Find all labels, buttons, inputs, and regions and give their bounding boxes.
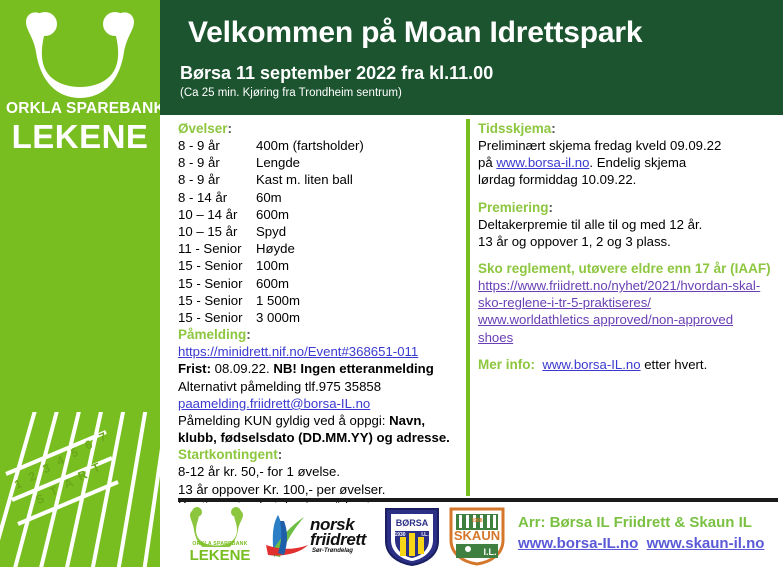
- event-datetime: Børsa 11 september 2022 fra kl.11.00: [180, 63, 493, 84]
- fee-line: 8-12 år kr. 50,- for 1 øvelse.: [178, 463, 460, 480]
- signup-url-link[interactable]: https://minidrett.nif.no/Event#368651-01…: [178, 343, 460, 360]
- page-title: Velkommen på Moan Idrettspark: [188, 16, 642, 50]
- event-age: 15 - Senior: [178, 275, 256, 292]
- svg-text:S: S: [34, 491, 47, 507]
- svg-text:I.L.: I.L.: [421, 532, 429, 538]
- valid-signup-line-2: klubb, fødselsdato (DD.MM.YY) og adresse…: [178, 429, 460, 446]
- event-name: 100m: [256, 257, 289, 274]
- shoe-rules-link[interactable]: sko-reglene-i-tr-5-praktiseres/: [478, 294, 778, 311]
- events-table: 8 - 9 år400m (fartsholder) 8 - 9 årLengd…: [178, 137, 460, 326]
- shoe-rules-heading: Sko reglement, utøvere eldre enn 17 år (…: [478, 260, 778, 277]
- svg-text:1930: 1930: [394, 532, 405, 538]
- event-name: Høyde: [256, 240, 295, 257]
- event-age: 15 - Senior: [178, 257, 256, 274]
- schedule-prefix: på: [478, 155, 496, 170]
- table-row: 15 - Senior1 500m: [178, 292, 460, 309]
- svg-text:5: 5: [69, 445, 81, 461]
- deadline-label: Frist:: [178, 361, 211, 376]
- deadline-value: 08.09.22.: [215, 361, 270, 376]
- borsa-il-crest-icon: BØRSA 1930 I.L.: [382, 505, 442, 567]
- event-name: 400m (fartsholder): [256, 137, 364, 154]
- event-age: 8 - 9 år: [178, 154, 256, 171]
- poster-root: ORKLA SPAREBANK LEKENE: [0, 0, 783, 567]
- schedule-line-2: på www.borsa-il.no. Endelig skjema: [478, 154, 778, 171]
- events-heading: Øvelser:: [178, 120, 460, 137]
- more-info-link[interactable]: www.borsa-IL.no: [542, 357, 640, 372]
- deadline-warning: NB! Ingen etteranmelding: [273, 361, 433, 376]
- schedule-line-1: Preliminært skjema fredag kveld 09.09.22: [478, 137, 778, 154]
- shoe-rules-link[interactable]: https://www.friidrett.no/nyhet/2021/hvor…: [478, 277, 778, 294]
- table-row: 15 - Senior600m: [178, 275, 460, 292]
- footer-links: www.borsa-IL.no www.skaun-il.no: [518, 535, 764, 552]
- awards-line: 13 år og oppover 1, 2 og 3 plass.: [478, 233, 778, 250]
- svg-text:1908: 1908: [471, 518, 482, 524]
- table-row: 8 - 14 år60m: [178, 189, 460, 206]
- event-name: 1 500m: [256, 292, 300, 309]
- signup-email-link[interactable]: paamelding.friidrett@borsa-IL.no: [178, 395, 460, 412]
- event-age: 10 – 14 år: [178, 206, 256, 223]
- shoe-rules-link[interactable]: shoes: [478, 329, 778, 346]
- event-name: 60m: [256, 189, 282, 206]
- svg-text:2: 2: [27, 469, 39, 485]
- event-name: 3 000m: [256, 309, 300, 326]
- event-age: 15 - Senior: [178, 309, 256, 326]
- table-row: 15 - Senior100m: [178, 257, 460, 274]
- schedule-heading: Tidsskjema:: [478, 120, 778, 137]
- event-name: Lengde: [256, 154, 300, 171]
- footer-link-skaun[interactable]: www.skaun-il.no: [647, 535, 765, 552]
- event-name: 600m: [256, 275, 289, 292]
- table-row: 8 - 9 årKast m. liten ball: [178, 171, 460, 188]
- event-name: Spyd: [256, 223, 286, 240]
- arranger-label: Arr: Børsa IL Friidrett & Skaun IL: [518, 514, 752, 531]
- orkla-sparebank-logo-icon: [12, 8, 148, 98]
- event-age: 8 - 9 år: [178, 171, 256, 188]
- svg-text:4: 4: [55, 453, 67, 469]
- table-row: 10 – 15 årSpyd: [178, 223, 460, 240]
- table-row: 8 - 9 årLengde: [178, 154, 460, 171]
- schedule-link[interactable]: www.borsa-il.no: [496, 155, 589, 170]
- awards-heading: Premiering:: [478, 199, 778, 216]
- skaun-il-crest-icon: 1908 SKAUN I.L.: [448, 506, 506, 566]
- column-divider: [466, 119, 470, 496]
- poster-header: Velkommen på Moan Idrettspark Børsa 11 s…: [160, 0, 783, 115]
- more-info-line: Mer info: www.borsa-IL.no etter hvert.: [478, 356, 778, 373]
- running-track-graphic-icon: 1 2 3 4 5 6 7 S T A R T: [0, 412, 160, 567]
- norsk-friidrett-region: Sør-Trøndelag: [312, 548, 353, 554]
- valid-signup-line-1: Påmelding KUN gyldig ved å oppgi: Navn,: [178, 412, 460, 429]
- sidebar-bank-name: ORKLA SPAREBANK: [6, 100, 158, 118]
- event-age: 10 – 15 år: [178, 223, 256, 240]
- event-age: 15 - Senior: [178, 292, 256, 309]
- fee-heading: Startkontingent:: [178, 446, 460, 463]
- event-name: Kast m. liten ball: [256, 171, 353, 188]
- right-column: Tidsskjema: Preliminært skjema fredag kv…: [478, 120, 778, 373]
- table-row: 10 – 14 år600m: [178, 206, 460, 223]
- svg-text:I.L.: I.L.: [484, 547, 497, 557]
- event-age: 11 - Senior: [178, 240, 256, 257]
- awards-line: Deltakerpremie til alle til og med 12 år…: [478, 216, 778, 233]
- schedule-line-3: lørdag formiddag 10.09.22.: [478, 171, 778, 188]
- more-info-heading: Mer info:: [478, 357, 535, 372]
- left-column: Øvelser: 8 - 9 år400m (fartsholder) 8 - …: [178, 120, 460, 532]
- shoe-rules-link[interactable]: www.worldathletics approved/non-approved: [478, 311, 778, 328]
- alt-signup-line: Alternativt påmelding tlf.975 35858: [178, 378, 460, 395]
- svg-text:A: A: [62, 475, 76, 491]
- table-row: 8 - 9 år400m (fartsholder): [178, 137, 460, 154]
- valid-plain: Påmelding KUN gyldig ved å oppgi:: [178, 413, 389, 428]
- table-row: 15 - Senior3 000m: [178, 309, 460, 326]
- left-sidebar: ORKLA SPAREBANK LEKENE: [0, 0, 160, 567]
- footer-divider: [178, 498, 778, 502]
- sidebar-brand-name: LEKENE: [4, 118, 156, 156]
- event-age: 8 - 9 år: [178, 137, 256, 154]
- svg-text:7: 7: [97, 429, 109, 445]
- event-age: 8 - 14 år: [178, 189, 256, 206]
- poster-footer: ORKLA SPAREBANK LEKENE norsk friidrett S…: [160, 503, 783, 567]
- svg-text:SKAUN: SKAUN: [454, 528, 500, 543]
- norsk-friidrett-line2: friidrett: [310, 530, 366, 550]
- footer-link-borsa[interactable]: www.borsa-IL.no: [518, 535, 638, 552]
- schedule-suffix: . Endelig skjema: [589, 155, 686, 170]
- more-info-suffix: etter hvert.: [644, 357, 707, 372]
- fee-line: 13 år oppover Kr. 100,- per øvelser.: [178, 481, 460, 498]
- travel-note: (Ca 25 min. Kjøring fra Trondheim sentru…: [180, 87, 402, 99]
- svg-text:3: 3: [41, 461, 53, 477]
- footer-lekene-name: LEKENE: [178, 547, 262, 564]
- valid-bold: Navn,: [389, 413, 425, 428]
- deadline-line: Frist: 08.09.22. NB! Ingen etteranmeldin…: [178, 360, 460, 377]
- table-row: 11 - SeniorHøyde: [178, 240, 460, 257]
- event-name: 600m: [256, 206, 289, 223]
- signup-heading: Påmelding:: [178, 326, 460, 343]
- svg-text:BØRSA: BØRSA: [396, 518, 429, 528]
